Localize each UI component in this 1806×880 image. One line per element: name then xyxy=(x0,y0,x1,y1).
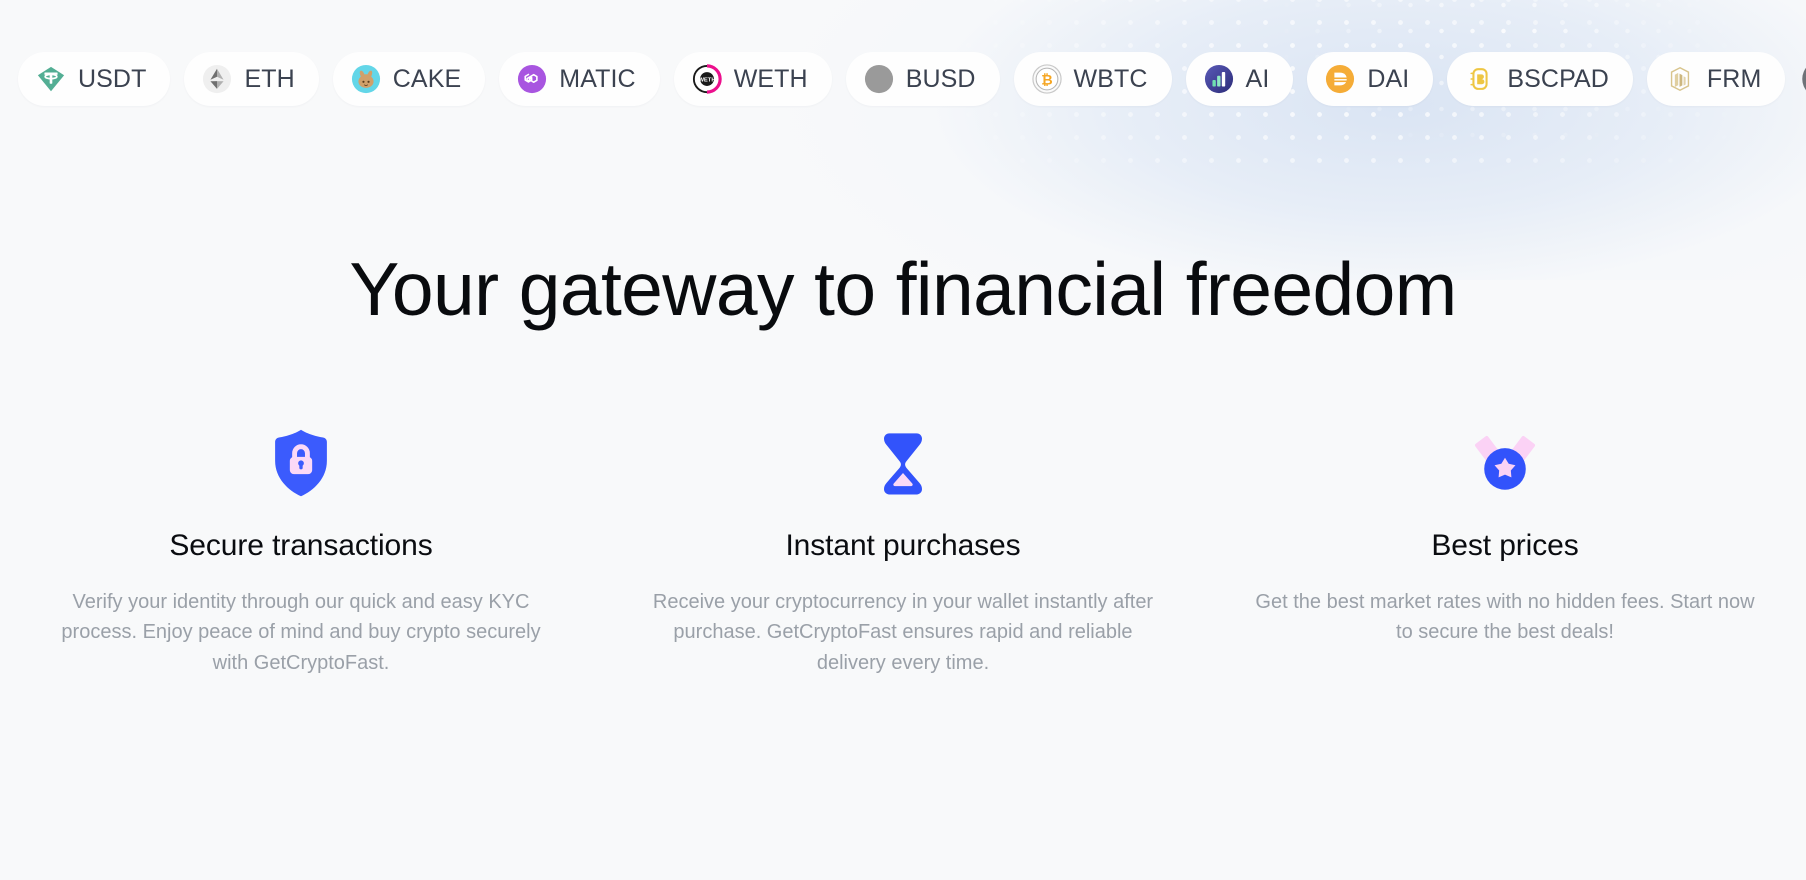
token-chip-busd[interactable]: BUSD xyxy=(846,52,1000,106)
token-chip-cake[interactable]: CAKE xyxy=(333,52,485,106)
feature-description: Receive your cryptocurrency in your wall… xyxy=(644,587,1162,678)
feature-card-secure-transactions: Secure transactions Verify your identity… xyxy=(0,425,602,678)
page-title: Your gateway to financial freedom xyxy=(0,248,1806,331)
token-ticker[interactable]: USDT ETH CAKE MATIC xyxy=(0,50,1806,108)
token-symbol: FRM xyxy=(1707,67,1761,92)
token-chip-frm[interactable]: FRM xyxy=(1647,52,1785,106)
token-symbol: WETH xyxy=(734,67,808,92)
feature-card-best-prices: Best prices Get the best market rates wi… xyxy=(1204,425,1806,678)
feature-description: Verify your identity through our quick a… xyxy=(42,587,560,678)
feature-title: Instant purchases xyxy=(785,529,1020,562)
feature-title: Best prices xyxy=(1431,529,1578,562)
token-symbol: CAKE xyxy=(393,67,461,92)
token-chip-dai[interactable]: DAI xyxy=(1307,52,1433,106)
token-chip-ai[interactable]: AI xyxy=(1186,52,1294,106)
feature-description: Get the best market rates with no hidden… xyxy=(1246,587,1764,648)
token-chip-weth[interactable]: WETH WETH xyxy=(674,52,832,106)
dai-icon xyxy=(1325,64,1355,94)
svg-text:WETH: WETH xyxy=(698,77,715,83)
background-gradient-glow xyxy=(720,0,1806,280)
token-chip-eth[interactable]: ETH xyxy=(184,52,318,106)
token-symbol: DAI xyxy=(1367,67,1409,92)
feature-list: Secure transactions Verify your identity… xyxy=(0,425,1806,678)
token-symbol: BSCPAD xyxy=(1507,67,1609,92)
token-symbol: AI xyxy=(1246,67,1270,92)
feature-card-instant-purchases: Instant purchases Receive your cryptocur… xyxy=(602,425,1204,678)
token-symbol: USDT xyxy=(78,67,146,92)
token-chip-xrp[interactable] xyxy=(1799,52,1806,106)
token-chip-bscpad[interactable]: BSCPAD xyxy=(1447,52,1633,106)
hourglass-icon xyxy=(865,425,941,501)
frm-icon xyxy=(1665,64,1695,94)
token-symbol: WBTC xyxy=(1074,67,1148,92)
cake-icon xyxy=(351,64,381,94)
xrp-icon xyxy=(1801,59,1806,99)
medal-star-icon xyxy=(1467,425,1543,501)
busd-icon xyxy=(864,64,894,94)
shield-lock-icon xyxy=(263,425,339,501)
token-chip-matic[interactable]: MATIC xyxy=(499,52,659,106)
token-symbol: BUSD xyxy=(906,67,976,92)
feature-title: Secure transactions xyxy=(169,529,432,562)
ai-icon xyxy=(1204,64,1234,94)
token-symbol: MATIC xyxy=(559,67,635,92)
token-chip-wbtc[interactable]: ₿ WBTC xyxy=(1014,52,1172,106)
usdt-icon xyxy=(36,64,66,94)
token-symbol: ETH xyxy=(244,67,294,92)
eth-icon xyxy=(202,64,232,94)
matic-icon xyxy=(517,64,547,94)
wbtc-icon: ₿ xyxy=(1032,64,1062,94)
weth-icon: WETH xyxy=(692,64,722,94)
token-chip-usdt[interactable]: USDT xyxy=(18,52,170,106)
bscpad-icon xyxy=(1465,64,1495,94)
svg-text:₿: ₿ xyxy=(1041,71,1052,87)
